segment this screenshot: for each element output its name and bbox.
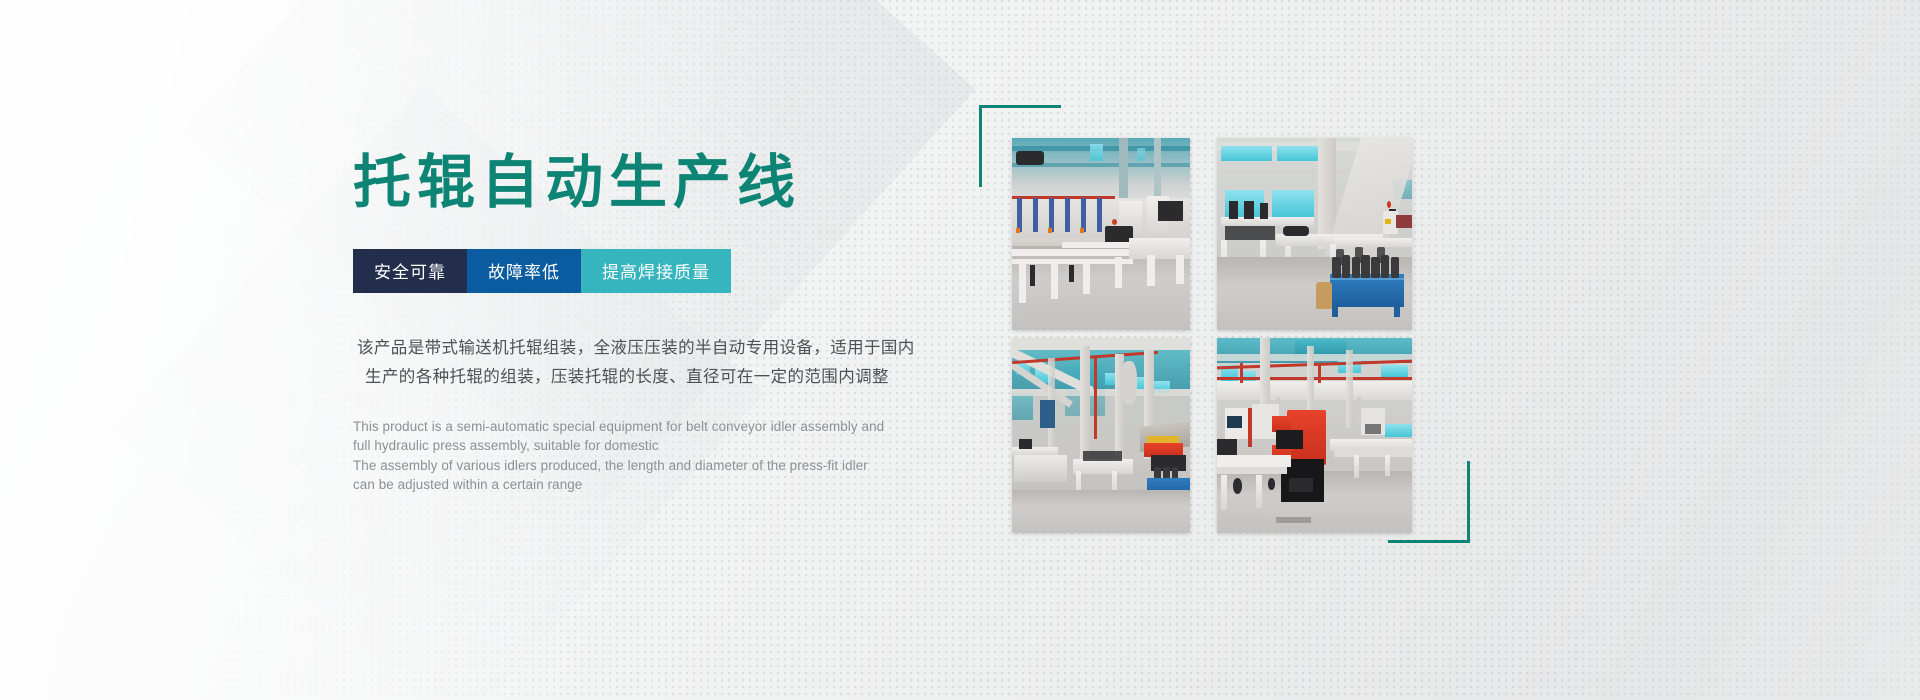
gallery-section (975, 95, 1535, 565)
description-english-line-3: The assembly of various idlers produced,… (353, 456, 973, 476)
description-english-line-1: This product is a semi-automatic special… (353, 417, 973, 437)
description-english-line-4: can be adjusted within a certain range (353, 475, 973, 495)
feature-tag-list: 安全可靠 故障率低 提高焊接质量 (353, 249, 731, 293)
photo-conveyor-line[interactable] (1012, 138, 1190, 330)
photo-workshop-rollers[interactable] (1217, 138, 1412, 330)
photo-grid (1012, 138, 1412, 533)
feature-tag-low-failure-rate[interactable]: 故障率低 (467, 249, 581, 293)
banner-text-column: 托辊自动生产线 安全可靠 故障率低 提高焊接质量 该产品是带式输送机托辊组装，全… (353, 152, 973, 495)
page-title: 托辊自动生产线 (353, 152, 973, 213)
photo-red-press-machine[interactable] (1217, 338, 1412, 533)
feature-tag-safe-reliable[interactable]: 安全可靠 (353, 249, 467, 293)
product-banner: 托辊自动生产线 安全可靠 故障率低 提高焊接质量 该产品是带式输送机托辊组装，全… (0, 0, 1920, 700)
description-chinese-line-1: 该产品是带式输送机托辊组装，全液压压装的半自动专用设备，适用于国内 (357, 333, 973, 362)
description-chinese: 该产品是带式输送机托辊组装，全液压压装的半自动专用设备，适用于国内 生产的各种托… (353, 333, 973, 391)
description-english: This product is a semi-automatic special… (353, 417, 973, 495)
description-english-line-2: full hydraulic press assembly, suitable … (353, 436, 973, 456)
photo-factory-interior[interactable] (1012, 338, 1190, 533)
description-chinese-line-2: 生产的各种托辊的组装，压装托辊的长度、直径可在一定的范围内调整 (357, 362, 973, 391)
feature-tag-improved-weld-quality[interactable]: 提高焊接质量 (581, 249, 731, 293)
